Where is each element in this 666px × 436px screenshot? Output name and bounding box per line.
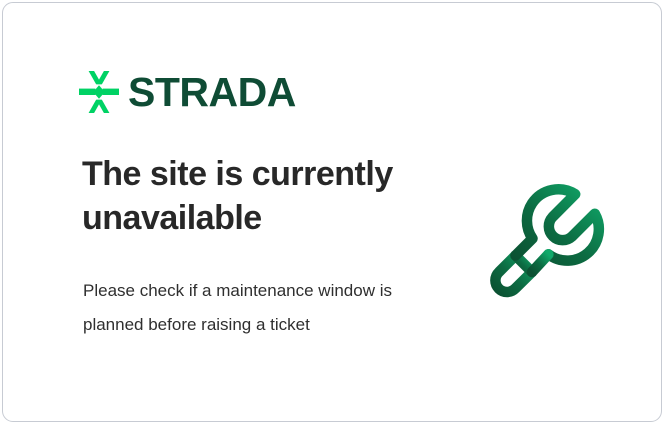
page-description: Please check if a maintenance window is … — [83, 274, 403, 342]
status-card: STRADA The site is currently unavailable… — [2, 2, 662, 422]
brand-wordmark: STRADA — [128, 72, 296, 113]
strada-asterisk-icon — [79, 71, 119, 113]
brand-lockup: STRADA — [79, 71, 296, 113]
page-title: The site is currently unavailable — [82, 153, 422, 241]
wrench-icon — [455, 155, 617, 317]
